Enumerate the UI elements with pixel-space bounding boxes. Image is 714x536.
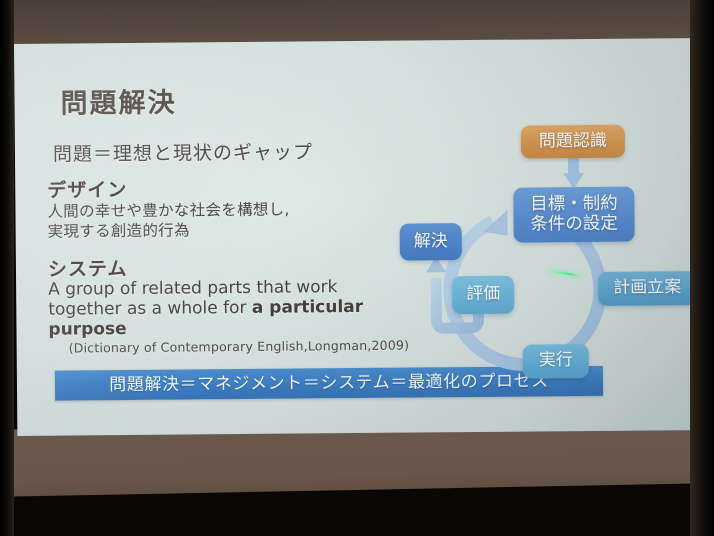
projector-photo: 問題解決 問題＝理想と現状のギャップ デザイン 人間の幸せや豊かな社会を構想し,…: [0, 0, 714, 536]
slide-title: 問題解決: [60, 81, 176, 121]
section-body-system: A group of related parts that work toget…: [48, 277, 379, 340]
section-body-design: 人間の幸せや豊かな社会を構想し, 実現する創造的行為: [47, 200, 290, 242]
cycle-node-solution[interactable]: 解決: [400, 223, 462, 261]
system-text-line2: together as a whole for: [48, 298, 252, 320]
section-heading-design: デザイン: [47, 175, 127, 203]
screen-edge-right: [690, 0, 714, 536]
presentation-slide: 問題解決 問題＝理想と現状のギャップ デザイン 人間の幸せや豊かな社会を構想し,…: [14, 38, 695, 436]
section-heading-system: システム: [48, 254, 128, 282]
screen-edge-left: [0, 0, 14, 536]
system-text-line1: A group of related parts that work: [48, 277, 337, 300]
design-line-1: 人間の幸せや豊かな社会を構想し,: [47, 200, 289, 222]
goal-label-line2: 条件の設定: [530, 214, 618, 235]
source-citation: (Dictionary of Contemporary English,Long…: [69, 338, 410, 356]
slide-lead-definition: 問題＝理想と現状のギャップ: [53, 137, 313, 166]
design-line-2: 実現する創造的行為: [48, 220, 290, 242]
cycle-node-goal-constraints[interactable]: 目標・制約 条件の設定: [513, 187, 634, 243]
cycle-node-problem-recognition[interactable]: 問題認識: [521, 125, 625, 159]
problem-solving-cycle-diagram: 問題認識 目標・制約 条件の設定 計画立案 実行 評価 解決: [372, 66, 695, 379]
cycle-node-evaluation[interactable]: 評価: [452, 276, 514, 315]
cycle-node-planning[interactable]: 計画立案: [598, 271, 695, 306]
cycle-node-execution[interactable]: 実行: [523, 344, 589, 379]
goal-label-line1: 目標・制約: [530, 194, 618, 215]
